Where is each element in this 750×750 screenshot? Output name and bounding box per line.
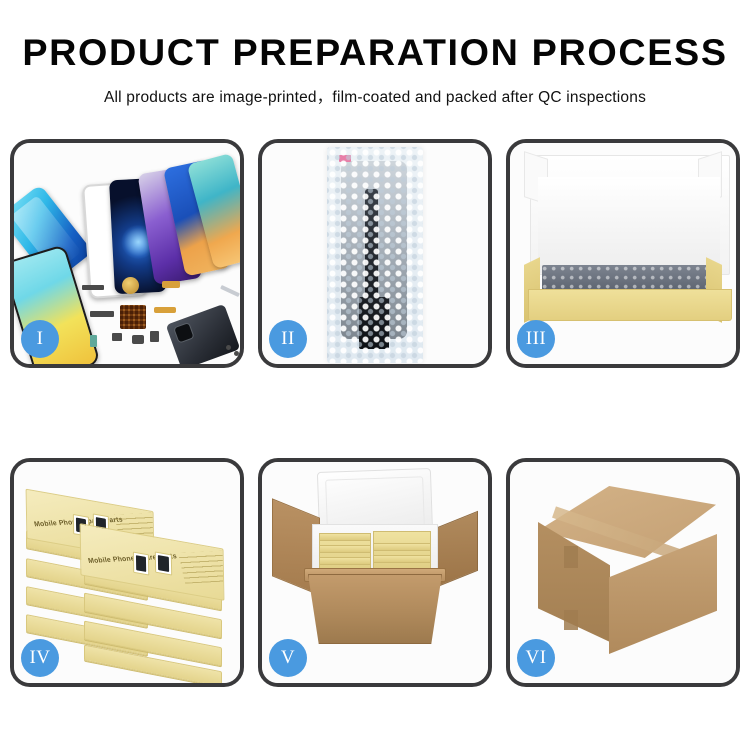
step-panel-3: III bbox=[506, 139, 740, 368]
white-foam-liner bbox=[538, 177, 720, 273]
step-badge-5: V bbox=[269, 639, 307, 677]
page-title: PRODUCT PREPARATION PROCESS bbox=[0, 34, 750, 73]
carton-body bbox=[308, 574, 442, 644]
step-panel-6: VI bbox=[506, 458, 740, 687]
part-screw-1 bbox=[226, 345, 231, 350]
part-chip-array bbox=[120, 305, 146, 329]
part-flex-cable-2 bbox=[154, 307, 176, 313]
carton-seam-top bbox=[564, 546, 578, 568]
product-preparation-infographic: PRODUCT PREPARATION PROCESS All products… bbox=[0, 0, 750, 750]
box-spec-lines-2 bbox=[178, 551, 224, 584]
step-badge-3: III bbox=[517, 320, 555, 358]
bubble-wrap-bag bbox=[327, 147, 423, 363]
step-badge-1: I bbox=[21, 320, 59, 358]
step-panel-1: I bbox=[10, 139, 244, 368]
step-panel-4: Mobile Phone Spare Parts Mobile Phone Sp… bbox=[10, 458, 244, 687]
step-badge-6: VI bbox=[517, 639, 555, 677]
part-vibrator bbox=[150, 331, 159, 342]
part-tweezers bbox=[220, 285, 240, 297]
box-window-2a bbox=[133, 552, 149, 576]
part-camera bbox=[132, 335, 144, 344]
part-back-housing bbox=[166, 304, 240, 364]
box-window-2b bbox=[155, 551, 172, 575]
carton-seam-bottom bbox=[564, 610, 578, 630]
header: PRODUCT PREPARATION PROCESS All products… bbox=[0, 0, 750, 107]
part-battery-chip bbox=[90, 335, 97, 347]
bubble-texture-shadows bbox=[327, 147, 423, 363]
yellow-tray-front bbox=[528, 289, 732, 321]
part-connector bbox=[82, 285, 104, 290]
step-badge-2: II bbox=[269, 320, 307, 358]
box-stack: Mobile Phone Spare Parts Mobile Phone Sp… bbox=[24, 482, 230, 672]
step-panel-2: II bbox=[258, 139, 492, 368]
inner-box-edge-3 bbox=[319, 557, 371, 565]
part-screw-2 bbox=[234, 351, 239, 356]
page-subtitle: All products are image-printed，film-coat… bbox=[0, 85, 750, 107]
steps-grid: I II bbox=[10, 139, 740, 739]
inner-box-edge-5 bbox=[373, 555, 431, 563]
inner-box-edge-2 bbox=[319, 545, 371, 553]
inner-box-edge-1 bbox=[319, 533, 371, 541]
part-button bbox=[112, 333, 122, 341]
part-bracket bbox=[90, 311, 114, 317]
step-panel-5: V bbox=[258, 458, 492, 687]
inner-box-edge-4 bbox=[373, 543, 431, 551]
part-flex-cable-1 bbox=[162, 281, 180, 288]
step-badge-4: IV bbox=[21, 639, 59, 677]
part-speaker-coil bbox=[122, 277, 139, 294]
spare-parts-cluster bbox=[76, 271, 240, 364]
